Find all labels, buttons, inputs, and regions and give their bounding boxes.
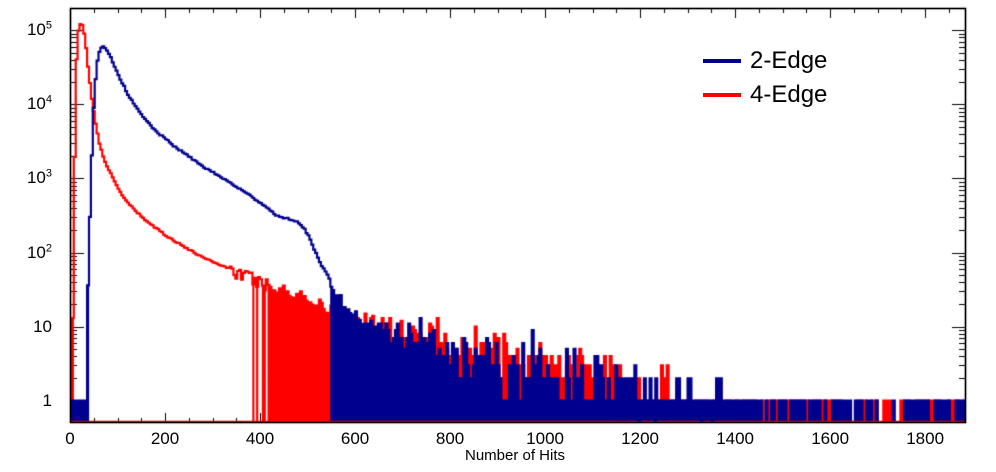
chart-root: 110102103104105 020040060080010001200140… [0,0,996,472]
x-tick-label: 1200 [621,429,659,449]
x-tick-label: 1000 [526,429,564,449]
legend-swatch-2-edge [703,59,741,63]
y-tick-label: 1 [43,392,52,409]
legend-item-2-edge[interactable]: 2-Edge [703,44,903,78]
y-tick-label: 103 [27,169,52,186]
y-tick-label: 102 [27,244,52,261]
x-tick-label: 200 [151,429,179,449]
legend: 2-Edge 4-Edge [703,44,903,112]
x-tick-label: 0 [65,429,74,449]
y-tick-label: 104 [27,95,52,112]
x-axis-title-text: Number of Hits [465,447,565,464]
y-tick-label: 10 [33,318,52,335]
x-tick-label: 1600 [811,429,849,449]
legend-item-4-edge[interactable]: 4-Edge [703,78,903,112]
x-tick-label: 1400 [716,429,754,449]
legend-swatch-4-edge [703,93,741,97]
y-tick-label: 105 [27,21,52,38]
x-tick-label: 400 [246,429,274,449]
legend-label-2-edge: 2-Edge [750,49,827,73]
x-tick-label: 1800 [906,429,944,449]
x-tick-label: 600 [341,429,369,449]
legend-label-4-edge: 4-Edge [750,83,827,107]
x-tick-label: 800 [436,429,464,449]
x-axis-title: Number of Hits [0,447,996,464]
y-axis-tick-labels: 110102103104105 [0,0,64,472]
